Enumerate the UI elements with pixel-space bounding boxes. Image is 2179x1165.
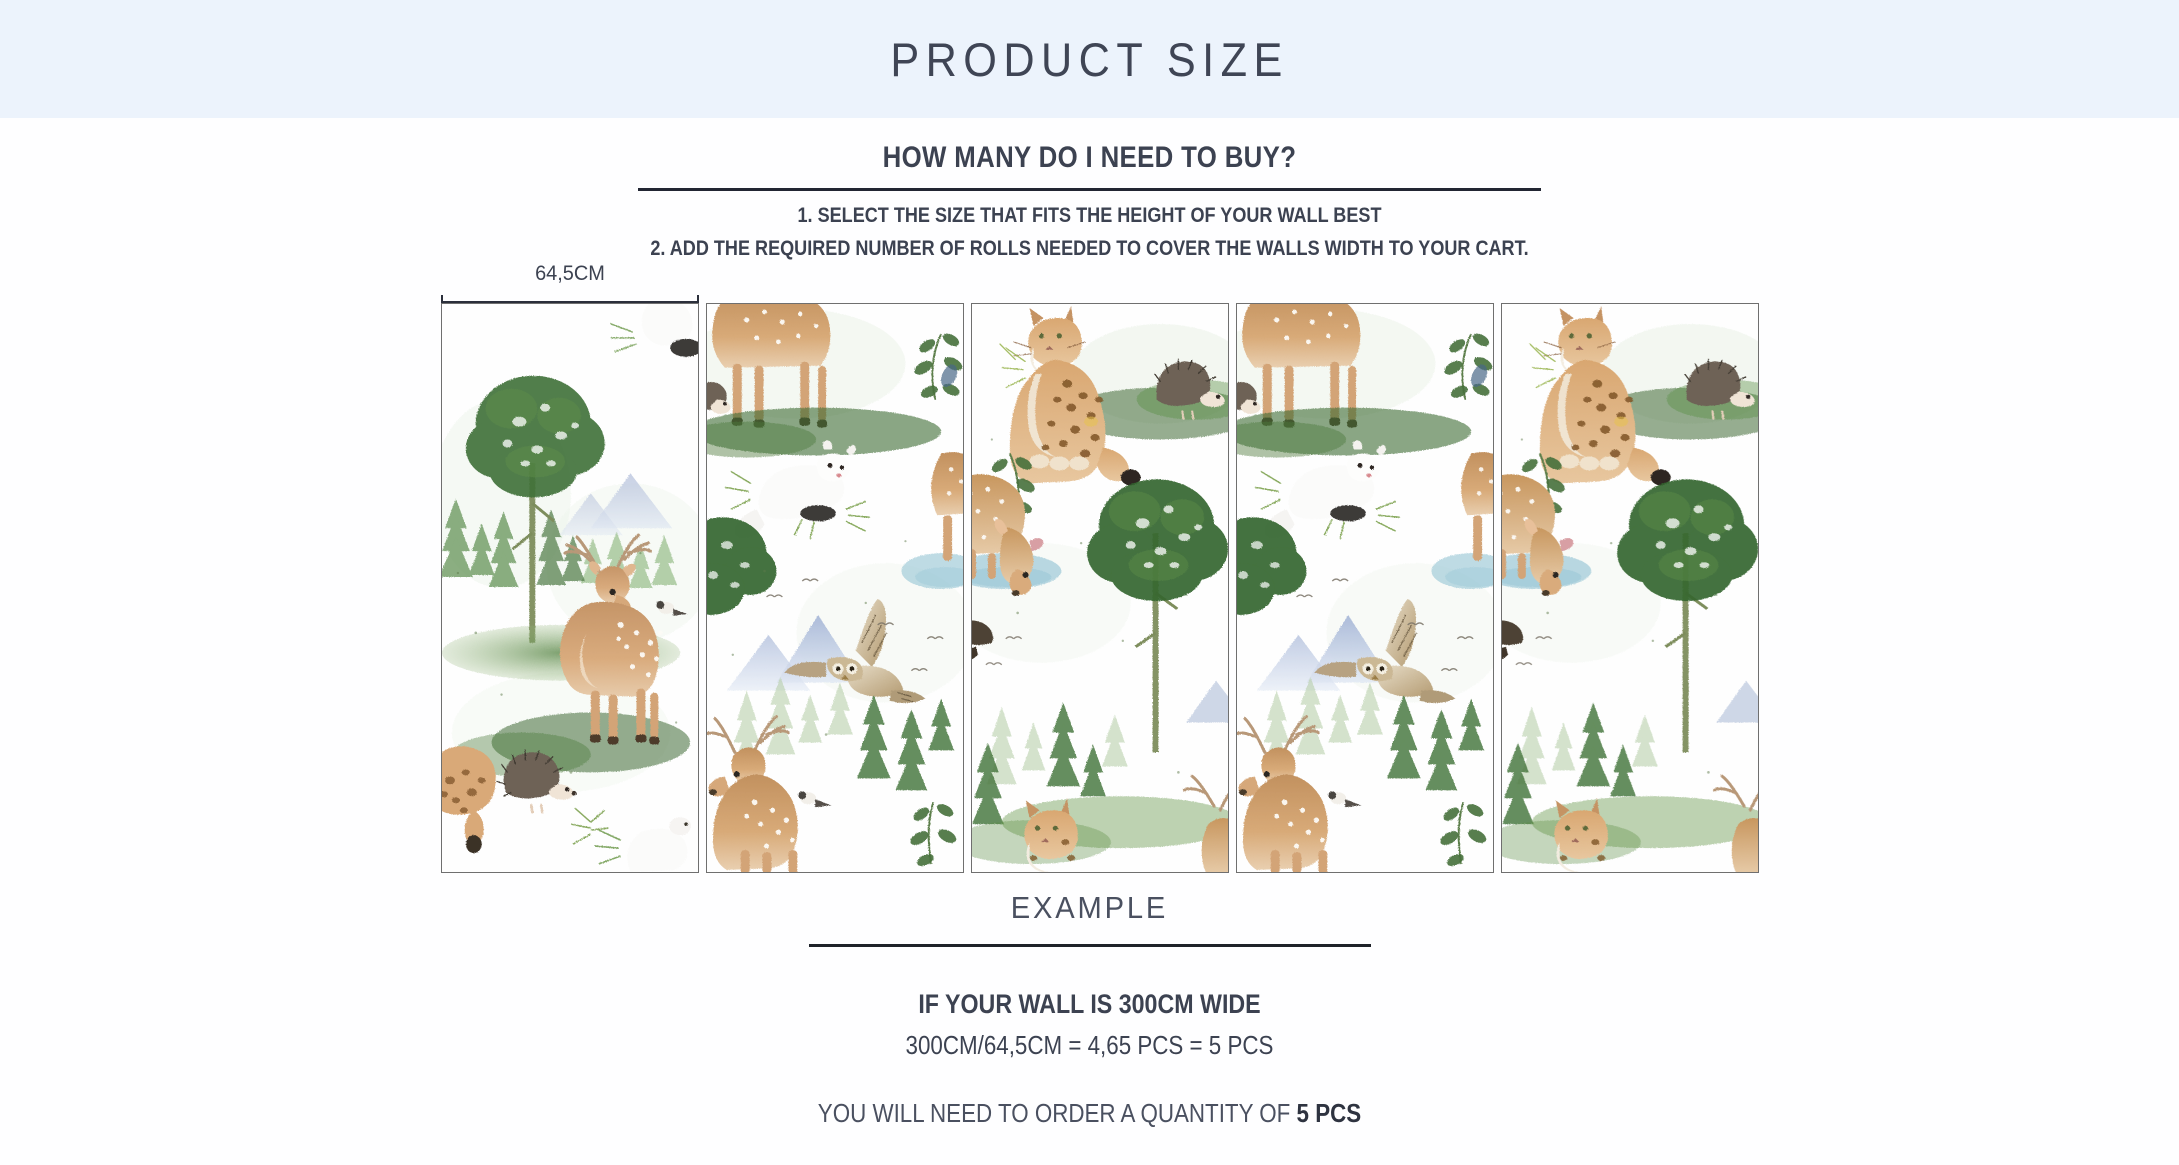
wallpaper-art-a	[442, 304, 698, 872]
intro-step-2: 2. ADD THE REQUIRED NUMBER OF ROLLS NEED…	[174, 236, 2004, 261]
order-quantity-value: 5 PCS	[1297, 1098, 1362, 1128]
wallpaper-panel-strip	[441, 303, 1759, 873]
page-title: PRODUCT SIZE	[890, 32, 1288, 87]
intro-step-1: 1. SELECT THE SIZE THAT FITS THE HEIGHT …	[174, 203, 2004, 228]
wallpaper-art-c-repeat	[1502, 304, 1758, 872]
wallpaper-art-b-repeat	[1237, 304, 1493, 872]
example-divider	[809, 944, 1371, 947]
intro-heading: HOW MANY DO I NEED TO BUY?	[153, 141, 2027, 175]
example-order-quantity: YOU WILL NEED TO ORDER A QUANTITY OF 5 P…	[153, 1098, 2027, 1129]
dimension-label: 64,5CM	[447, 262, 692, 286]
example-calculation: 300CM/64,5CM = 4,65 PCS = 5 PCS	[153, 1030, 2027, 1061]
wallpaper-art-b	[707, 304, 963, 872]
page-header: PRODUCT SIZE	[0, 0, 2179, 118]
wallpaper-panel-4[interactable]	[1236, 303, 1494, 873]
wallpaper-panel-3[interactable]	[971, 303, 1229, 873]
example-wall-width: IF YOUR WALL IS 300CM WIDE	[153, 989, 2027, 1020]
wallpaper-art-c	[972, 304, 1228, 872]
intro-section: HOW MANY DO I NEED TO BUY? 1. SELECT THE…	[0, 118, 2179, 261]
example-section: EXAMPLE IF YOUR WALL IS 300CM WIDE 300CM…	[0, 890, 2179, 1129]
wallpaper-panel-5[interactable]	[1501, 303, 1759, 873]
dimension-indicator: 64,5CM	[441, 262, 699, 309]
example-heading: EXAMPLE	[65, 890, 2113, 926]
wallpaper-panel-1[interactable]	[441, 303, 699, 873]
intro-divider	[638, 188, 1541, 191]
wallpaper-panel-2[interactable]	[706, 303, 964, 873]
order-prefix: YOU WILL NEED TO ORDER A QUANTITY OF	[818, 1098, 1297, 1128]
